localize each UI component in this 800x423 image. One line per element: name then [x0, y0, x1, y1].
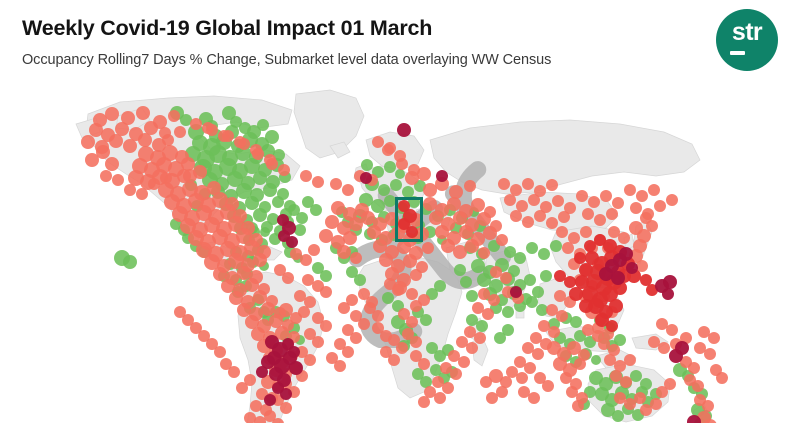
slide-root: Weekly Covid-19 Global Impact 01 March O… — [0, 0, 800, 423]
str-logo: str — [716, 9, 778, 71]
world-map — [0, 80, 800, 423]
str-logo-text: str — [716, 20, 778, 45]
page-subtitle: Occupancy Rolling7 Days % Change, Submar… — [22, 52, 551, 68]
world-map-landmasses — [0, 80, 800, 423]
slide-header: Weekly Covid-19 Global Impact 01 March O… — [0, 0, 800, 86]
italy-highlight-box[interactable] — [395, 197, 423, 242]
str-logo-underline — [730, 51, 745, 55]
page-title: Weekly Covid-19 Global Impact 01 March — [22, 16, 432, 41]
